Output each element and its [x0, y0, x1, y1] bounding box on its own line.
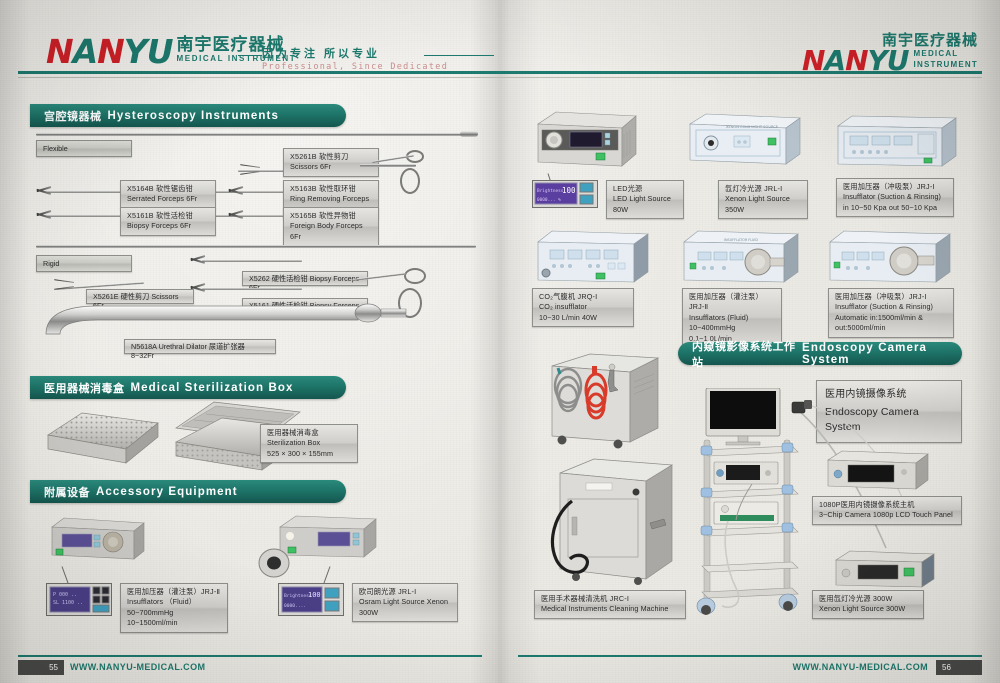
logo-left: NANYU 南宇医疗器械 MEDICAL INSTRUMENT [46, 36, 296, 66]
cn-x5261b: 软性剪刀 [319, 152, 349, 161]
cn-xenon: 氙灯冷光源 JRL-Ⅰ [725, 184, 801, 194]
cn-x5165b: 软性异物钳 [319, 211, 356, 220]
group-tag-rigid: Rigid [36, 255, 132, 272]
cn-fluid-right: 医用加压器（灌注泵） JRJ-Ⅱ [689, 292, 775, 313]
section-cn-3: 附属设备 [44, 484, 90, 500]
brand-wordmark-right: NANYU [802, 48, 909, 73]
label-insufflator-auto: 医用加压器（冲吸泵）JRJ-Ⅰ Insufflator (Suction & R… [828, 288, 954, 338]
en-auto: Insufflator (Suction & Rinsing) [835, 302, 947, 312]
device-xenon-light-source: XENON COLD LIGHT SOURCE [686, 110, 802, 168]
label-x5262: X5262 硬性活检钳 Biopsy Forceps 6Fr [242, 271, 368, 286]
forceps-tip-icon-biopsy-flex [36, 209, 52, 220]
rigid-ring-handle-upper [404, 268, 426, 284]
brand-wordmark: NANYU [46, 37, 173, 67]
label-insufflator-fluid: 医用加压器（灌注泵）JRJ-Ⅱ Insufflators （Fluid） 50~… [120, 583, 228, 633]
header-divider-thin [18, 77, 982, 78]
sterilization-box-closed-image [44, 405, 164, 470]
label-insufflator-suction: 医用加压器（冲吸泵）JRJ-Ⅰ Insufflator (Suction & R… [836, 178, 954, 217]
code-x5165b: X5165B [290, 211, 317, 220]
cleaning-machine-image [546, 455, 696, 595]
spec-suction: in 10~50 Kpa out 50~10 Kpa [843, 203, 947, 213]
device-xenon-bottom [832, 548, 936, 590]
instrument-shaft-x5161 [202, 288, 302, 290]
spec-auto: Automatic in:1500ml/min & out:5000ml/min [835, 313, 947, 334]
forceps-tip-icon-serrated [36, 185, 52, 196]
en-camera-host: 3~Chip Camera 1080p LCD Touch Panel [819, 510, 955, 520]
spec-led: 80W [613, 205, 677, 215]
spec-osram: 300W [359, 608, 451, 618]
device-insufflator-fluid [50, 515, 146, 563]
svg-text:P 000 ..: P 000 .. [53, 592, 77, 598]
device-camera-host [824, 448, 930, 492]
scissors-tip-icon [238, 165, 260, 174]
footer-divider-right [518, 655, 982, 657]
label-co2-insufflator: CO₂气腹机 JRQ-Ⅰ CO₂ insufflator 10~30 L/min… [532, 288, 634, 327]
website-right[interactable]: WWW.NANYU-MEDICAL.COM [793, 662, 928, 672]
slogan-cn: 因为专注 所以专业 [262, 45, 562, 61]
cn-insufflator-fluid: 医用加压器（灌注泵）JRJ-Ⅱ [127, 587, 221, 597]
section-bar-hysteroscopy: 宫腔镜器械 Hysteroscopy Instruments [30, 104, 346, 127]
logo-right: 南宇医疗器械 NANYU MEDICALINSTRUMENT [802, 33, 978, 73]
cn-cleaning-machine: 医用手术器械清洗机 JRC-Ⅰ [541, 594, 679, 604]
svg-text:0000... %: 0000... % [537, 197, 561, 203]
en-insufflator-fluid: Insufflators （Fluid） [127, 597, 221, 607]
rigid-scissors-tip-icon [52, 280, 74, 289]
forceps-tip-icon-x5161 [190, 282, 206, 293]
page-number-left: 55 [18, 660, 64, 675]
page-number-right: 56 [936, 660, 982, 675]
svg-text:INSUFFLATOR FLUID: INSUFFLATOR FLUID [724, 238, 758, 242]
svg-text:XENON COLD LIGHT SOURCE: XENON COLD LIGHT SOURCE [726, 125, 779, 129]
display-panel-light-source: Brightness 100 0000.... [278, 583, 344, 616]
brand-name-en-right: MEDICALINSTRUMENT [914, 48, 978, 73]
section-en-endoscopy: Endoscopy Camera System [802, 342, 962, 366]
svg-text:0000....: 0000.... [284, 603, 306, 609]
section-en-2: Medical Sterilization Box [131, 382, 294, 394]
section-cn-2: 医用器械消毒盒 [44, 380, 125, 396]
cn-x5163b: 软性取环钳 [319, 184, 356, 193]
instrument-shaft-x5262 [202, 260, 302, 262]
label-x5165b: X5165B 软性异物钳 Foreign Body Forceps 6Fr [283, 207, 379, 246]
cn-co2: CO₂气腹机 JRQ-Ⅰ [539, 292, 627, 302]
rigid-instrument-shaft-top [360, 164, 416, 167]
label-n5618a: N5618A Urethral Dilator 尿道扩张器 8~32Fr [124, 339, 276, 354]
en-xenon: Xenon Light Source [725, 194, 801, 204]
header-divider [18, 71, 982, 74]
en-fluid-right: Insufflators (Fluid) [689, 313, 775, 323]
en-x5165b: Foreign Body Forceps 6Fr [290, 221, 372, 242]
section-bar-accessory: 附属设备 Accessory Equipment [30, 480, 346, 503]
label-camera-host: 1080P医用内镜摄像系统主机 3~Chip Camera 1080p LCD … [812, 496, 962, 525]
forceps-tip-icon-ring [228, 185, 244, 196]
label-cleaning-machine: 医用手术器械清洗机 JRC-Ⅰ Medical Instruments Clea… [534, 590, 686, 619]
device-insufflator-fluid-right: INSUFFLATOR FLUID [680, 228, 800, 286]
en-cleaning-machine: Medical Instruments Cleaning Machine [541, 604, 679, 614]
section-en-3: Accessory Equipment [96, 486, 238, 498]
en-x5164b: Serrated Forceps 6Fr [127, 194, 209, 204]
catalog-spread: NANYU 南宇医疗器械 MEDICAL INSTRUMENT 因为专注 所以专… [0, 0, 1000, 683]
display-panel-led: Brightness 100 0000... % [532, 180, 598, 208]
forceps-tip-icon-x5262 [190, 254, 206, 265]
en-led: LED Light Source [613, 194, 677, 204]
code-x5163b: X5163B [290, 184, 317, 193]
code-x5161b: X5161B [127, 211, 154, 220]
footer-divider-left [18, 655, 482, 657]
ring-handle-lower [400, 168, 420, 194]
section-en: Hysteroscopy Instruments [108, 110, 279, 122]
device-led-light-source [534, 108, 638, 170]
section-bar-sterilization: 医用器械消毒盒 Medical Sterilization Box [30, 376, 346, 399]
label-sterilization-box: 医用器械消毒盒 Sterilization Box 525 × 300 × 15… [260, 424, 358, 463]
light-guide-port-icon [258, 548, 290, 578]
cn-x5164b: 软性锯齿钳 [156, 184, 193, 193]
spec-xenon: 350W [725, 205, 801, 215]
section-bar-endoscopy: 内窥镜影像系统工作站 Endoscopy Camera System [678, 342, 962, 365]
cn-osram: 欧司朗光源 JRL-Ⅰ [359, 587, 451, 597]
en-sterilization-box: Sterilization Box [267, 438, 351, 448]
en-xenon-bottom: Xenon Light Source 300W [819, 604, 917, 614]
svg-text:100: 100 [562, 186, 576, 195]
label-xenon-bottom: 医用氙灯冷光源 300W Xenon Light Source 300W [812, 590, 924, 619]
device-insufflator-suction [834, 112, 958, 170]
cn-camera-host: 1080P医用内镜摄像系统主机 [819, 500, 955, 510]
code-x5261b: X5261B [290, 152, 317, 161]
header-slogan: 因为专注 所以专业 Professional, Since Dedicated [262, 45, 562, 72]
cn-suction: 医用加压器（冲吸泵）JRJ-Ⅰ [843, 182, 947, 192]
label-x5164b: X5164B 软性锯齿钳 Serrated Forceps 6Fr [120, 180, 216, 209]
device-osram-light-source [278, 513, 378, 561]
hysteroscope-shaft [36, 133, 468, 136]
device-insufflator-auto [826, 228, 952, 286]
header-rule-left [238, 55, 262, 56]
cn-x5161b: 软性活检钳 [156, 211, 193, 220]
en-x5161b: Biopsy Forceps 6Fr [127, 221, 209, 231]
label-x5161b: X5161B 软性活检钳 Biopsy Forceps 6Fr [120, 207, 216, 236]
page-header: NANYU 南宇医疗器械 MEDICAL INSTRUMENT 因为专注 所以专… [0, 0, 1000, 80]
hysteroscope-shaft-2 [36, 245, 476, 248]
svg-text:100: 100 [308, 591, 321, 599]
header-rule-right [424, 55, 494, 56]
en-co2: CO₂ insufflator [539, 302, 627, 312]
group-tag-flexible: Flexible [36, 140, 132, 157]
size-sterilization-box: 525 × 300 × 155mm [267, 449, 351, 459]
section-cn: 宫腔镜器械 [44, 108, 102, 124]
spec-insufflator-fluid: 50~700mmHg 10~1500ml/min [127, 608, 221, 629]
cn-xenon-bottom: 医用氙灯冷光源 300W [819, 594, 917, 604]
svg-text:SL 1100 ..: SL 1100 .. [53, 600, 83, 606]
section-cn-endoscopy: 内窥镜影像系统工作站 [692, 338, 796, 370]
label-xenon-light-source: 氙灯冷光源 JRL-Ⅰ Xenon Light Source 350W [718, 180, 808, 219]
website-left[interactable]: WWW.NANYU-MEDICAL.COM [70, 662, 205, 672]
label-x5261b: X5261B 软性剪刀 Scissors 6Fr [283, 148, 379, 177]
label-osram-light-source: 欧司朗光源 JRL-Ⅰ Osram Light Source Xenon 300… [352, 583, 458, 622]
spec-co2: 10~30 L/min 40W [539, 313, 627, 323]
forceps-tip-icon-foreign [228, 209, 244, 220]
device-co2-insufflator [534, 228, 650, 286]
label-led-light-source: LED光源 LED Light Source 80W [606, 180, 684, 219]
hysteroscope-eyepiece [460, 131, 478, 137]
hose-reel-cart-image [534, 352, 682, 456]
svg-text:Brightness: Brightness [537, 188, 564, 194]
cn-led: LED光源 [613, 184, 677, 194]
display-panel-insufflator: P 000 .. SL 1100 .. [46, 583, 112, 616]
en-osram: Osram Light Source Xenon [359, 597, 451, 607]
cn-auto: 医用加压器（冲吸泵）JRJ-Ⅰ [835, 292, 947, 302]
en-suction: Insufflator (Suction & Rinsing) [843, 192, 947, 202]
cn-sterilization-box: 医用器械消毒盒 [267, 428, 351, 438]
code-x5164b: X5164B [127, 184, 154, 193]
